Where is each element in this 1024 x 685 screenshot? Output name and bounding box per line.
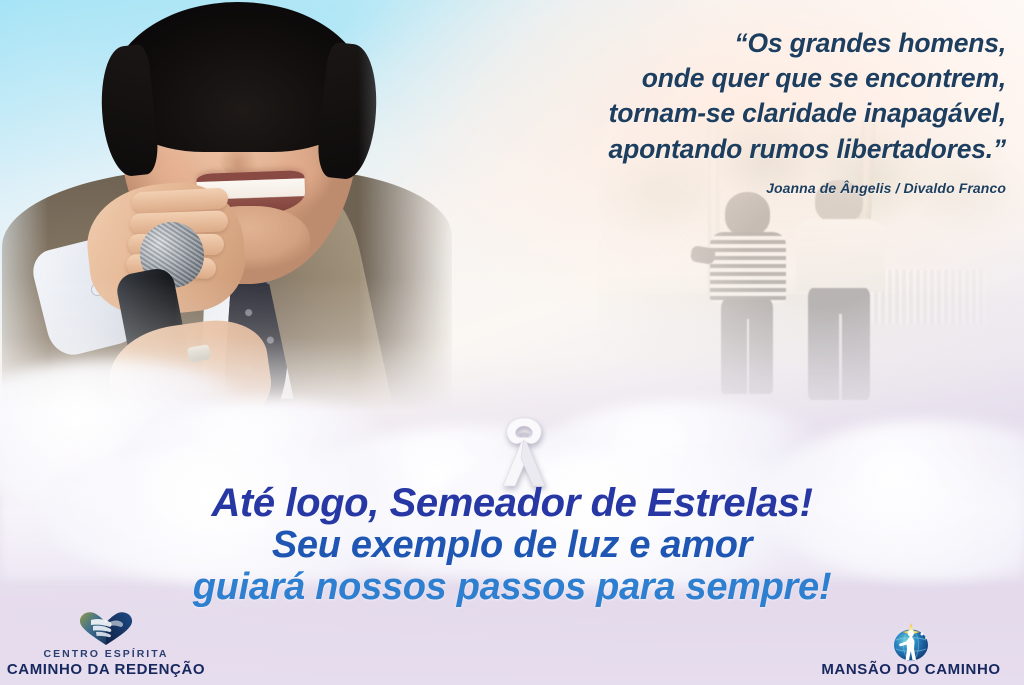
logo-left-line-1: CENTRO ESPÍRITA	[6, 648, 206, 661]
portrait-smiling-elderly-man-with-microphone	[0, 0, 462, 424]
logo-mansao-do-caminho[interactable]: MANSÃO DO CAMINHO	[806, 621, 1016, 679]
headline-line-3: guiará nossos passos para sempre!	[0, 567, 1024, 607]
quote-attribution: Joanna de Ângelis / Divaldo Franco	[396, 180, 1006, 196]
logo-right-line-2: MANSÃO DO CAMINHO	[806, 661, 1016, 679]
quote-line-3: tornam-se claridade inapagável,	[396, 96, 1006, 131]
logo-centro-espirita-caminho-da-redencao[interactable]: CENTRO ESPÍRITA CAMINHO DA REDENÇÃO	[6, 608, 206, 679]
headline-line-1: Até logo, Semeador de Estrelas!	[0, 482, 1024, 524]
white-mourning-ribbon-icon	[487, 410, 561, 488]
quote-line-1: “Os grandes homens,	[396, 26, 1006, 61]
headline-block: Até logo, Semeador de Estrelas! Seu exem…	[0, 482, 1024, 607]
logo-left-line-2: CAMINHO DA REDENÇÃO	[6, 661, 206, 679]
hands-heart-icon	[6, 608, 206, 648]
photo-fence	[871, 270, 985, 324]
tribute-banner: “Os grandes homens, onde quer que se enc…	[0, 0, 1024, 685]
headline-line-2: Seu exemplo de luz e amor	[0, 525, 1024, 565]
quote-line-4: apontando rumos libertadores.”	[396, 132, 1006, 167]
quote-line-2: onde quer que se encontrem,	[396, 61, 1006, 96]
quote-block: “Os grandes homens, onde quer que se enc…	[396, 26, 1006, 196]
globe-figure-star-icon	[806, 621, 1016, 661]
